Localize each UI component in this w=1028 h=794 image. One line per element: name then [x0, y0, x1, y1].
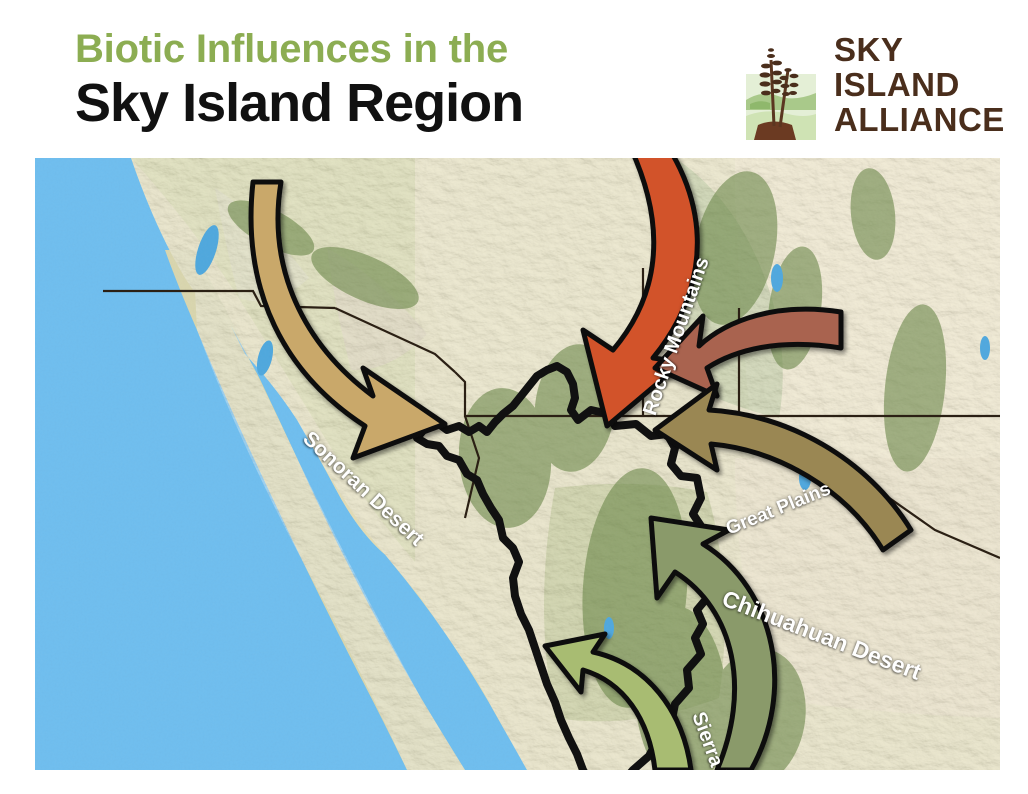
title-line-1: Biotic Influences in the [75, 26, 695, 72]
infographic-page: Biotic Influences in the Sky Island Regi… [0, 0, 1028, 794]
logo-line-alliance: ALLIANCE [834, 102, 1005, 137]
logo-wordmark: SKY ISLAND ALLIANCE [834, 32, 1005, 137]
sky-island-alliance-logo: SKY ISLAND ALLIANCE [744, 28, 994, 146]
logo-line-island: ISLAND [834, 67, 1005, 102]
page-title: Biotic Influences in the Sky Island Regi… [75, 26, 695, 132]
agave-plant-icon [744, 30, 818, 142]
map-canvas: Sonoran Desert Rocky Mountains Great Pla… [35, 158, 1000, 770]
title-line-2: Sky Island Region [75, 74, 695, 132]
header: Biotic Influences in the Sky Island Regi… [0, 0, 1028, 158]
logo-line-sky: SKY [834, 32, 1005, 67]
map-graphic [35, 158, 1000, 770]
